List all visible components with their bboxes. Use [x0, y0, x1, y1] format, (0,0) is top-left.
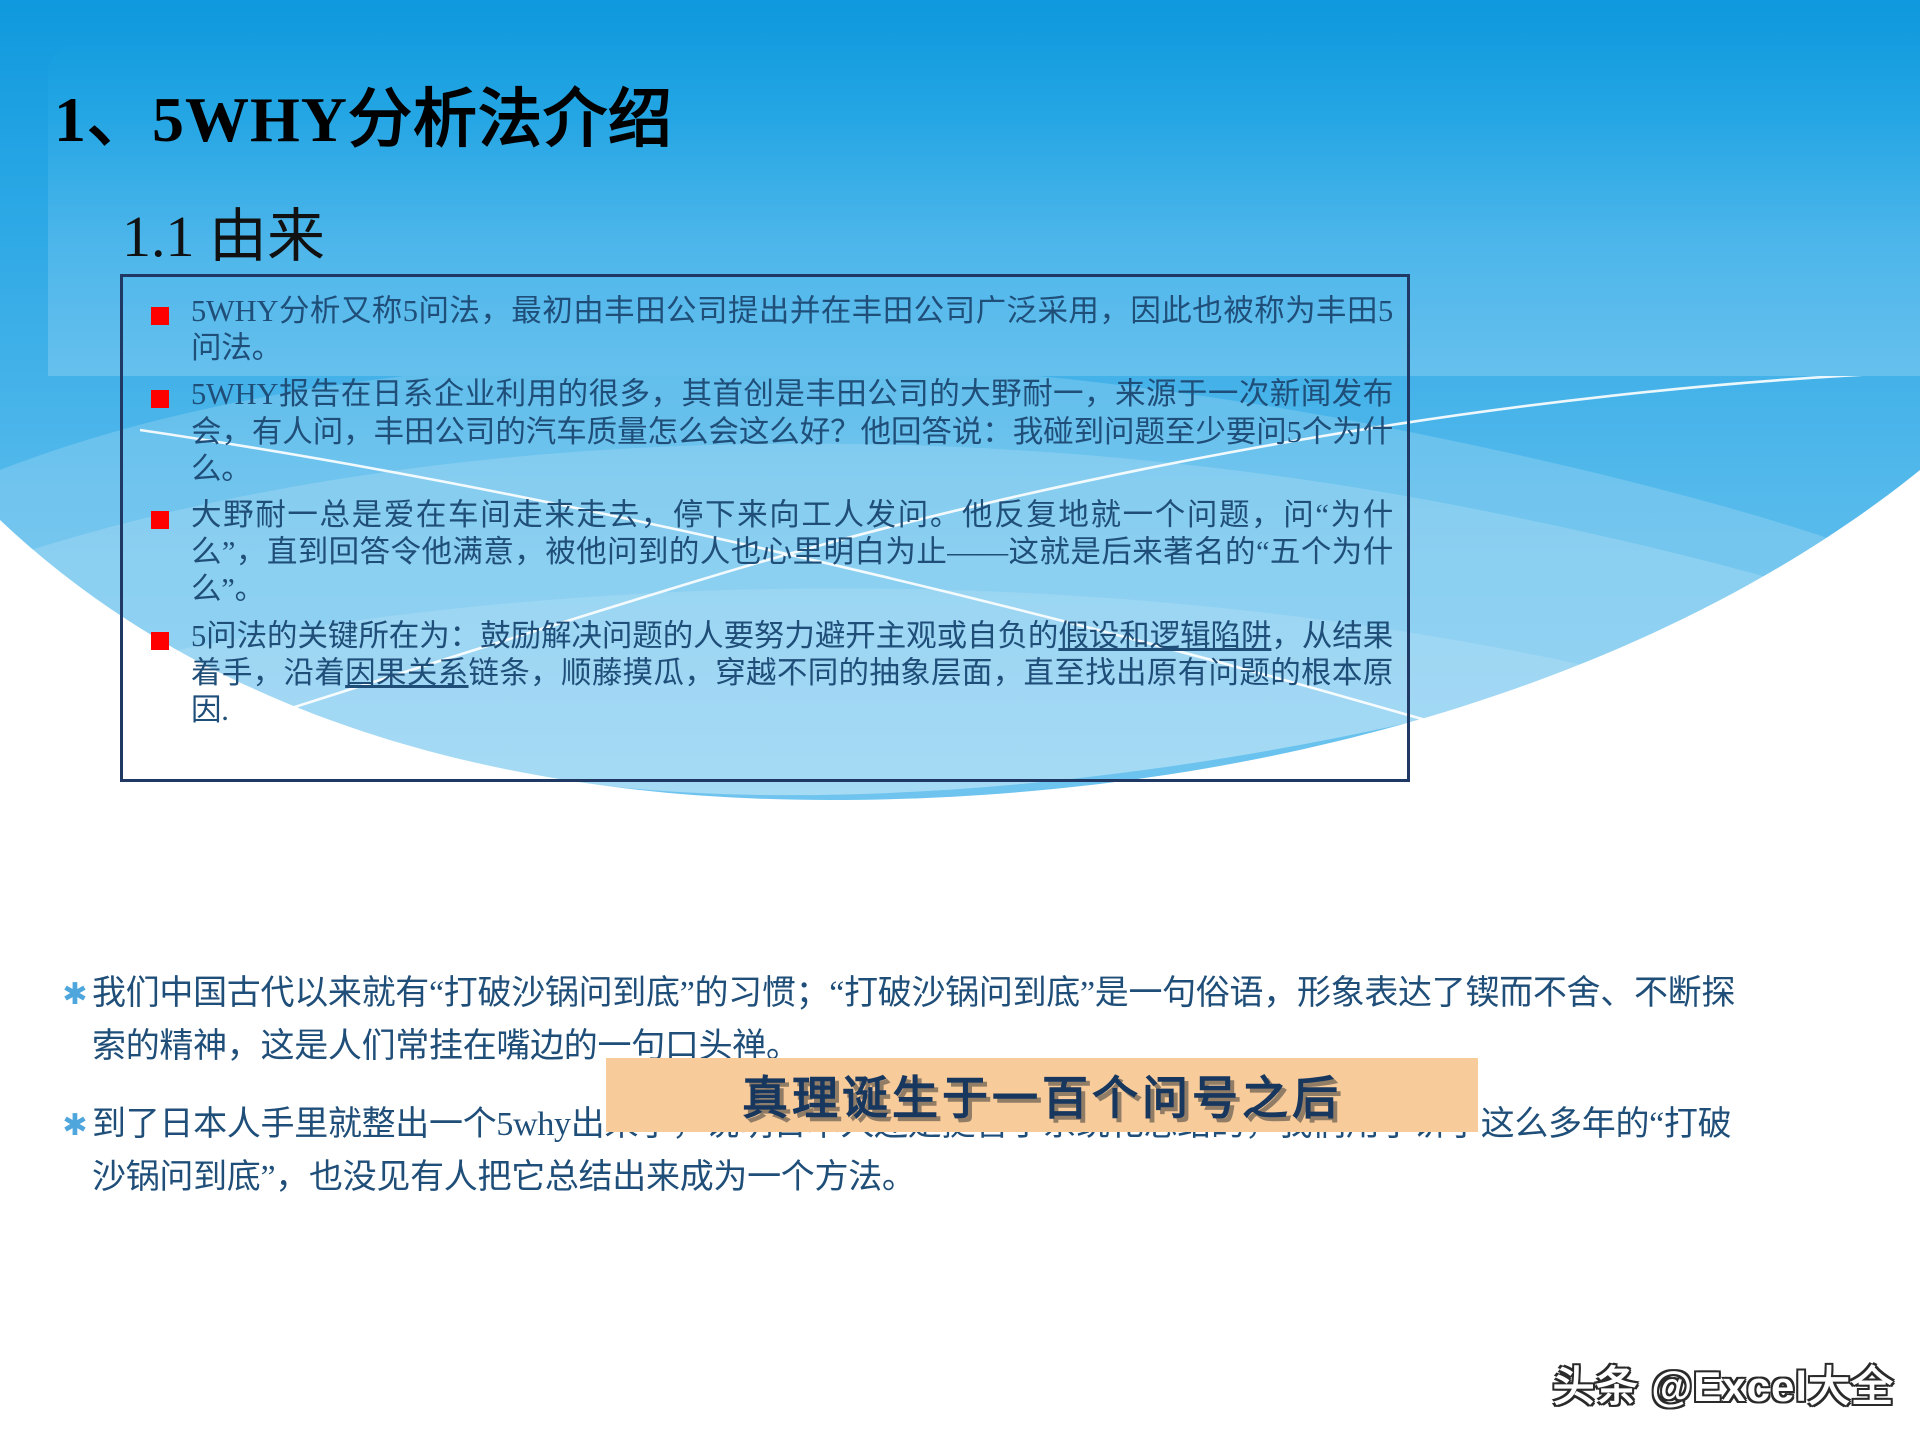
list-item: 5WHY报告在日系企业利用的很多，其首创是丰田公司的大野耐一，来源于一次新闻发布… [133, 376, 1393, 488]
bullet-text: 5WHY报告在日系企业利用的很多，其首创是丰田公司的大野耐一，来源于一次新闻发布… [191, 376, 1393, 488]
highlight-banner-text: 真理诞生于一百个问号之后 [742, 1062, 1342, 1128]
highlight-banner: 真理诞生于一百个问号之后 [606, 1058, 1478, 1132]
list-item: 5WHY分析又称5问法，最初由丰田公司提出并在丰田公司广泛采用，因此也被称为丰田… [133, 293, 1393, 367]
red-square-bullet-icon [151, 511, 169, 529]
bullet-text: 5WHY分析又称5问法，最初由丰田公司提出并在丰田公司广泛采用，因此也被称为丰田… [191, 293, 1393, 367]
list-item: 大野耐一总是爱在车间走来走去，停下来向工人发问。他反复地就一个问题，问“为什么”… [133, 497, 1393, 609]
asterisk-bullet-icon: ✱ [58, 1105, 92, 1147]
slide-canvas: 1、5WHY分析法介绍 1.1 由来 5WHY分析又称5问法，最初由丰田公司提出… [0, 0, 1920, 1440]
red-square-bullet-icon [151, 632, 169, 650]
content-box: 5WHY分析又称5问法，最初由丰田公司提出并在丰田公司广泛采用，因此也被称为丰田… [120, 274, 1410, 782]
bullet-text-with-links: 5问法的关键所在为：鼓励解决问题的人要努力避开主观或自负的假设和逻辑陷阱，从结果… [191, 618, 1393, 730]
list-item: 5问法的关键所在为：鼓励解决问题的人要努力避开主观或自负的假设和逻辑陷阱，从结果… [133, 618, 1393, 730]
page-subtitle: 1.1 由来 [122, 208, 325, 266]
red-square-bullet-icon [151, 390, 169, 408]
bullet-list: 5WHY分析又称5问法，最初由丰田公司提出并在丰田公司广泛采用，因此也被称为丰田… [123, 293, 1407, 738]
red-square-bullet-icon [151, 307, 169, 325]
watermark: 头条 @Excel大全 [1553, 1353, 1894, 1414]
asterisk-bullet-icon: ✱ [58, 974, 92, 1016]
bullet-text: 大野耐一总是爱在车间走来走去，停下来向工人发问。他反复地就一个问题，问“为什么”… [191, 497, 1393, 609]
page-title: 1、5WHY分析法介绍 [54, 88, 673, 152]
